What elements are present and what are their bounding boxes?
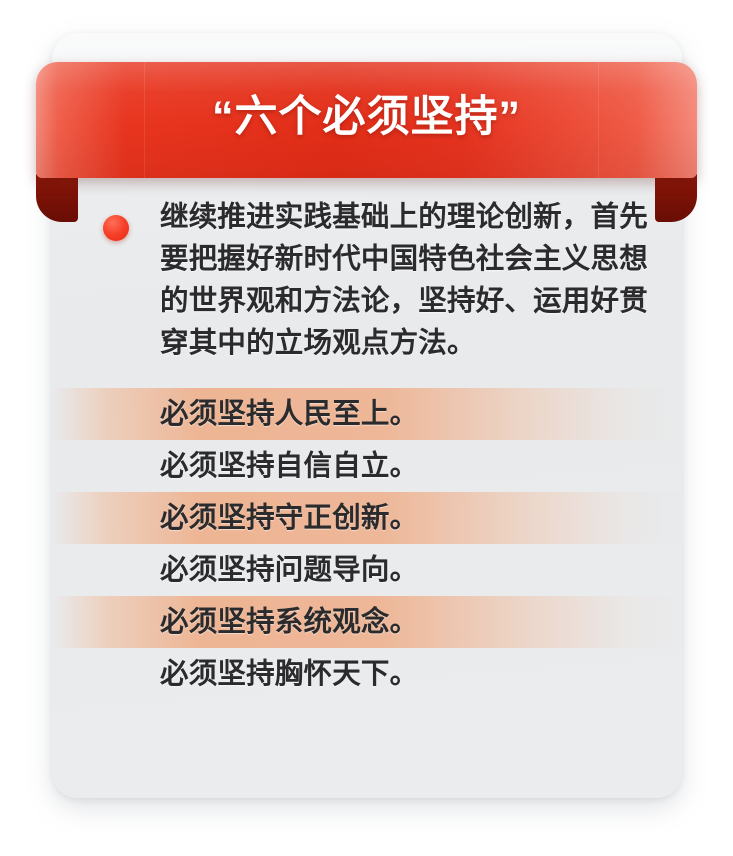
list-item: 必须坚持自信自立。 bbox=[52, 440, 682, 492]
list-item: 必须坚持系统观念。 bbox=[52, 596, 682, 648]
list-item-label: 必须坚持人民至上。 bbox=[160, 388, 418, 440]
list-item: 必须坚持问题导向。 bbox=[52, 544, 682, 596]
lead-paragraph-row: 继续推进实践基础上的理论创新，首先要把握好新时代中国特色社会主义思想的世界观和方… bbox=[52, 196, 682, 364]
poster-stage: “六个必须坚持” 继续推进实践基础上的理论创新，首先要把握好新时代中国特色社会主… bbox=[0, 0, 733, 856]
list-item: 必须坚持胸怀天下。 bbox=[52, 648, 682, 700]
list-item: 必须坚持守正创新。 bbox=[52, 492, 682, 544]
principles-list: 必须坚持人民至上。 必须坚持自信自立。 必须坚持守正创新。 必须坚持问题导向。 … bbox=[52, 388, 682, 700]
list-item-label: 必须坚持系统观念。 bbox=[160, 596, 418, 648]
list-item-label: 必须坚持自信自立。 bbox=[160, 440, 418, 492]
card-content: 继续推进实践基础上的理论创新，首先要把握好新时代中国特色社会主义思想的世界观和方… bbox=[52, 196, 682, 700]
banner-title: “六个必须坚持” bbox=[36, 88, 697, 146]
ribbon-banner: “六个必须坚持” bbox=[0, 62, 733, 202]
lead-paragraph: 继续推进实践基础上的理论创新，首先要把握好新时代中国特色社会主义思想的世界观和方… bbox=[160, 196, 658, 364]
red-dot-icon bbox=[103, 215, 129, 241]
list-item-label: 必须坚持守正创新。 bbox=[160, 492, 418, 544]
list-item: 必须坚持人民至上。 bbox=[52, 388, 682, 440]
list-item-label: 必须坚持问题导向。 bbox=[160, 544, 418, 596]
ribbon-band: “六个必须坚持” bbox=[36, 62, 697, 178]
list-item-label: 必须坚持胸怀天下。 bbox=[160, 648, 418, 700]
